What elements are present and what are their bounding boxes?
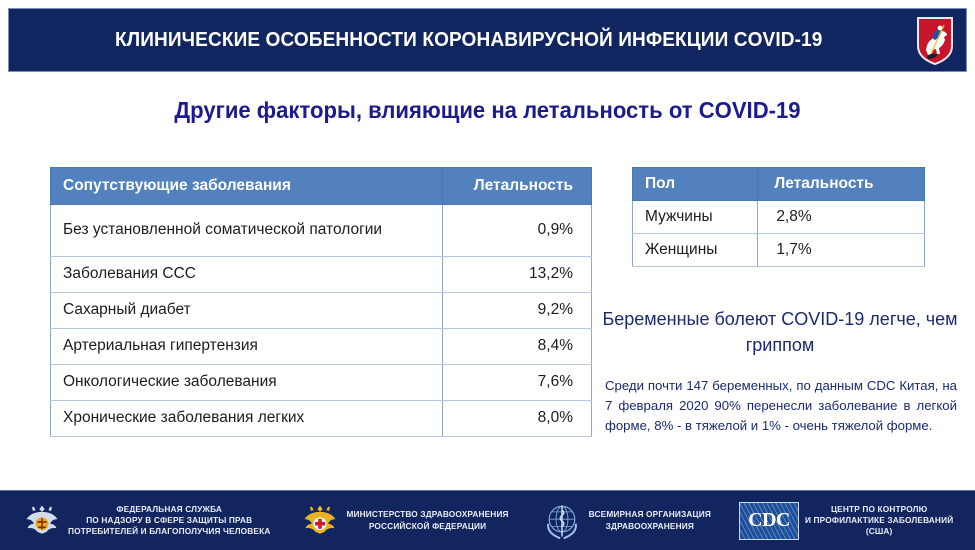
caption-line: МИНИСТЕРСТВО ЗДРАВООХРАНЕНИЯ [346, 509, 508, 520]
table-row: Сахарный диабет 9,2% [51, 293, 592, 329]
header-title: КЛИНИЧЕСКИЕ ОСОБЕННОСТИ КОРОНАВИРУСНОЙ И… [115, 28, 860, 52]
footer-org-who: ВСЕМИРНАЯ ОРГАНИЗАЦИЯ ЗДРАВООХРАНЕНИЯ [541, 491, 717, 550]
cell-lethality: 1,7% [758, 234, 925, 267]
comorbidity-lethality-table: Сопутствующие заболевания Летальность Бе… [50, 167, 592, 437]
caption-line: ВСЕМИРНАЯ ОРГАНИЗАЦИЯ [589, 509, 711, 520]
table-row: Артериальная гипертензия 8,4% [51, 329, 592, 365]
pregnancy-heading: Беременные болеют COVID-19 легче, чем гр… [600, 307, 960, 358]
cell-lethality: 8,0% [442, 401, 591, 437]
cell-lethality: 2,8% [758, 201, 925, 234]
table-row: Без установленной соматической патологии… [51, 205, 592, 257]
who-emblem-icon [541, 500, 583, 542]
table-row: Мужчины 2,8% [633, 201, 925, 234]
column-header-condition: Сопутствующие заболевания [51, 168, 443, 205]
cell-gender: Мужчины [633, 201, 758, 234]
table-header-row: Сопутствующие заболевания Летальность [51, 168, 592, 205]
cell-lethality: 13,2% [442, 257, 591, 293]
footer-org-caption: ВСЕМИРНАЯ ОРГАНИЗАЦИЯ ЗДРАВООХРАНЕНИЯ [583, 509, 717, 531]
table-header-row: Пол Летальность [633, 168, 925, 201]
footer-org-minzdrav: МИНИСТЕРСТВО ЗДРАВООХРАНЕНИЯ РОССИЙСКОЙ … [300, 491, 514, 550]
column-header-lethality: Летальность [442, 168, 591, 205]
cell-condition: Без установленной соматической патологии [51, 205, 443, 257]
footer-bar: ФЕДЕРАЛЬНАЯ СЛУЖБА ПО НАДЗОРУ В СФЕРЕ ЗА… [0, 490, 975, 550]
cell-condition: Сахарный диабет [51, 293, 443, 329]
footer-org-caption: ЦЕНТР ПО КОНТРОЛЮ И ПРОФИЛАКТИКЕ ЗАБОЛЕВ… [799, 504, 959, 537]
slide-title: Другие факторы, влияющие на летальность … [20, 97, 956, 124]
footer-org-cdc: CDC ЦЕНТР ПО КОНТРОЛЮ И ПРОФИЛАКТИКЕ ЗАБ… [739, 491, 959, 550]
caption-line: ПО НАДЗОРУ В СФЕРЕ ЗАЩИТЫ ПРАВ [68, 515, 270, 526]
cell-condition: Артериальная гипертензия [51, 329, 443, 365]
pregnancy-description: Среди почти 147 беременных, по данным CD… [605, 376, 957, 436]
cell-condition: Онкологические заболевания [51, 365, 443, 401]
minzdrav-eagle-icon [300, 501, 340, 541]
cell-gender: Женщины [633, 234, 758, 267]
moscow-coat-of-arms-icon [916, 16, 954, 66]
table-row: Заболевания ССС 13,2% [51, 257, 592, 293]
footer-org-rospotrebnadzor: ФЕДЕРАЛЬНАЯ СЛУЖБА ПО НАДЗОРУ В СФЕРЕ ЗА… [22, 491, 276, 550]
caption-line: ПОТРЕБИТЕЛЕЙ И БЛАГОПОЛУЧИЯ ЧЕЛОВЕКА [68, 526, 270, 537]
caption-line: И ПРОФИЛАКТИКЕ ЗАБОЛЕВАНИЙ [805, 515, 953, 526]
cdc-logo-icon: CDC [739, 502, 799, 540]
cell-condition: Заболевания ССС [51, 257, 443, 293]
table-row: Хронические заболевания легких 8,0% [51, 401, 592, 437]
caption-line: ЗДРАВООХРАНЕНИЯ [589, 521, 711, 532]
table-row: Онкологические заболевания 7,6% [51, 365, 592, 401]
cell-lethality: 8,4% [442, 329, 591, 365]
cell-lethality: 9,2% [442, 293, 591, 329]
gender-lethality-table: Пол Летальность Мужчины 2,8% Женщины 1,7… [632, 167, 925, 267]
slide-header-bar: КЛИНИЧЕСКИЕ ОСОБЕННОСТИ КОРОНАВИРУСНОЙ И… [8, 8, 967, 72]
caption-line: РОССИЙСКОЙ ФЕДЕРАЦИИ [346, 521, 508, 532]
cell-lethality: 0,9% [442, 205, 591, 257]
cell-lethality: 7,6% [442, 365, 591, 401]
caption-line: ЦЕНТР ПО КОНТРОЛЮ [805, 504, 953, 515]
caption-line: ФЕДЕРАЛЬНАЯ СЛУЖБА [68, 504, 270, 515]
footer-org-caption: МИНИСТЕРСТВО ЗДРАВООХРАНЕНИЯ РОССИЙСКОЙ … [340, 509, 514, 531]
column-header-gender: Пол [633, 168, 758, 201]
rospotrebnadzor-eagle-icon [22, 501, 62, 541]
cdc-logo-text: CDC [748, 509, 790, 532]
caption-line: (США) [805, 526, 953, 537]
column-header-lethality: Летальность [758, 168, 925, 201]
table-row: Женщины 1,7% [633, 234, 925, 267]
footer-org-caption: ФЕДЕРАЛЬНАЯ СЛУЖБА ПО НАДЗОРУ В СФЕРЕ ЗА… [62, 504, 276, 537]
cell-condition: Хронические заболевания легких [51, 401, 443, 437]
